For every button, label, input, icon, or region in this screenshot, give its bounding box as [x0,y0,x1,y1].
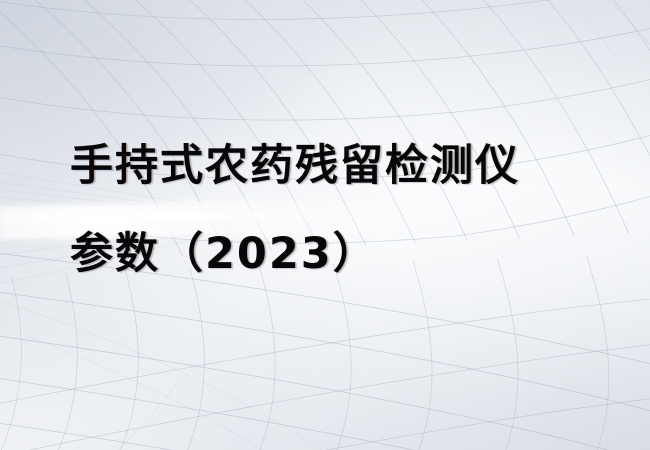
title-line-1: 手持式农药残留检测仪 [70,122,610,210]
slide-title: 手持式农药残留检测仪 参数（2023） [70,122,610,298]
title-line-2: 参数（2023） [70,210,610,298]
title-slide: 手持式农药残留检测仪 参数（2023） [0,0,650,450]
